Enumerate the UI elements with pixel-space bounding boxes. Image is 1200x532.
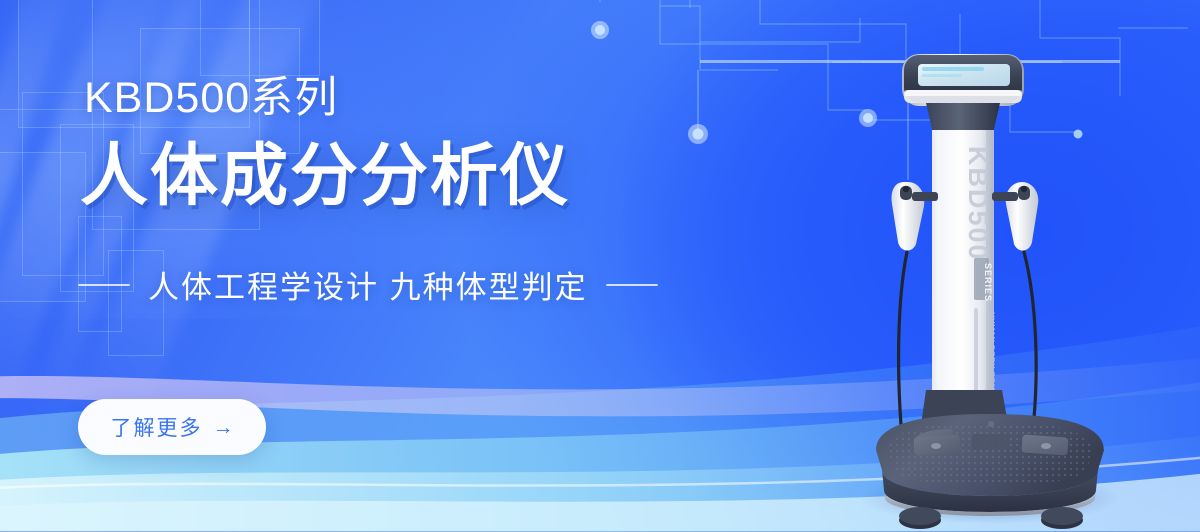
arrow-right-icon: →	[213, 417, 234, 438]
subtitle-row: 人体工程学设计 九种体型判定	[78, 262, 658, 307]
device-display-head	[902, 54, 1024, 106]
banner-content: KBD500系列 人体成分分析仪 人体工程学设计 九种体型判定 了解更多 →	[0, 0, 640, 532]
page-title: 人体成分分析仪	[80, 140, 570, 213]
product-image-body-composition-analyzer: KBD500 SERIES HUMAN BODY COMPOSITION ANA…	[840, 46, 1140, 532]
product-banner: KBD500系列 人体成分分析仪 人体工程学设计 九种体型判定 了解更多 →	[0, 0, 1200, 532]
device-series-badge: SERIES	[983, 263, 993, 302]
device-base-platform	[876, 390, 1104, 529]
subtitle: 人体工程学设计 九种体型判定	[148, 262, 588, 307]
learn-more-button[interactable]: 了解更多 →	[78, 399, 266, 455]
dash-right-icon	[606, 284, 658, 286]
product-series-label: KBD500系列	[84, 76, 338, 121]
learn-more-label: 了解更多	[111, 412, 203, 442]
dash-left-icon	[78, 284, 130, 286]
device-brand-text: KBD500	[963, 146, 993, 262]
